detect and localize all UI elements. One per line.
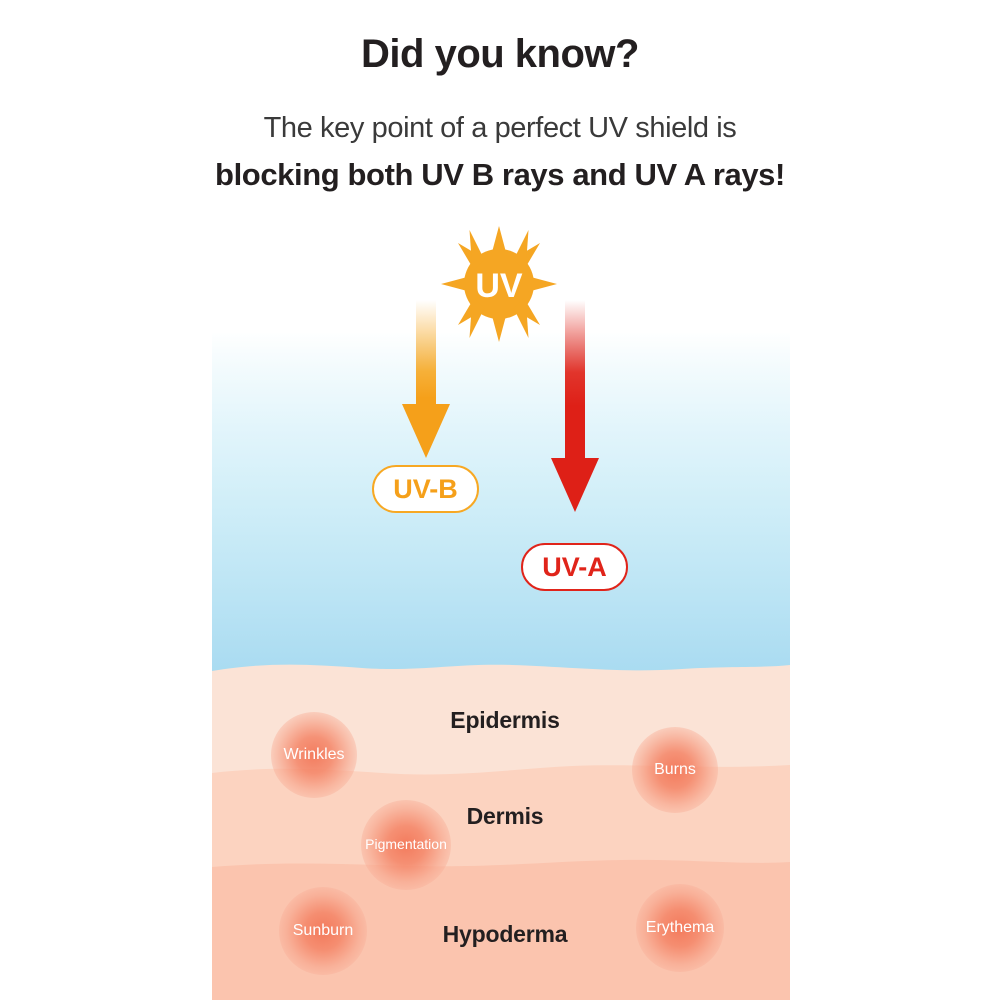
sky-background xyxy=(212,333,790,673)
uvb-arrow-icon xyxy=(400,300,452,462)
damage-blob-erythema[interactable]: Erythema xyxy=(636,884,724,972)
hypoderma-label: Hypoderma xyxy=(370,921,640,948)
damage-blob-label: Erythema xyxy=(646,919,714,937)
uva-arrow-icon xyxy=(549,300,601,516)
uvb-badge-label: UV-B xyxy=(393,474,458,505)
page-title: Did you know? xyxy=(0,32,1000,77)
damage-blob-label: Sunburn xyxy=(293,922,354,940)
sun-label: UV xyxy=(475,267,523,305)
subtitle-line-2: blocking both UV B rays and UV A rays! xyxy=(0,157,1000,193)
damage-blob-burns[interactable]: Burns xyxy=(632,727,718,813)
uvb-badge[interactable]: UV-B xyxy=(372,465,479,513)
damage-blob-label: Wrinkles xyxy=(283,746,344,764)
uva-badge-label: UV-A xyxy=(542,552,607,583)
uva-badge[interactable]: UV-A xyxy=(521,543,628,591)
subtitle-line-1: The key point of a perfect UV shield is xyxy=(0,112,1000,145)
damage-blob-sunburn[interactable]: Sunburn xyxy=(279,887,367,975)
damage-blob-pigmentation[interactable]: Pigmentation xyxy=(361,800,451,890)
sun-icon: UV xyxy=(441,226,557,342)
epidermis-label: Epidermis xyxy=(380,707,630,734)
damage-blob-label: Burns xyxy=(654,761,696,779)
damage-blob-wrinkles[interactable]: Wrinkles xyxy=(271,712,357,798)
damage-blob-label: Pigmentation xyxy=(365,837,447,852)
infographic-root: Did you know? The key point of a perfect… xyxy=(0,0,1000,1000)
